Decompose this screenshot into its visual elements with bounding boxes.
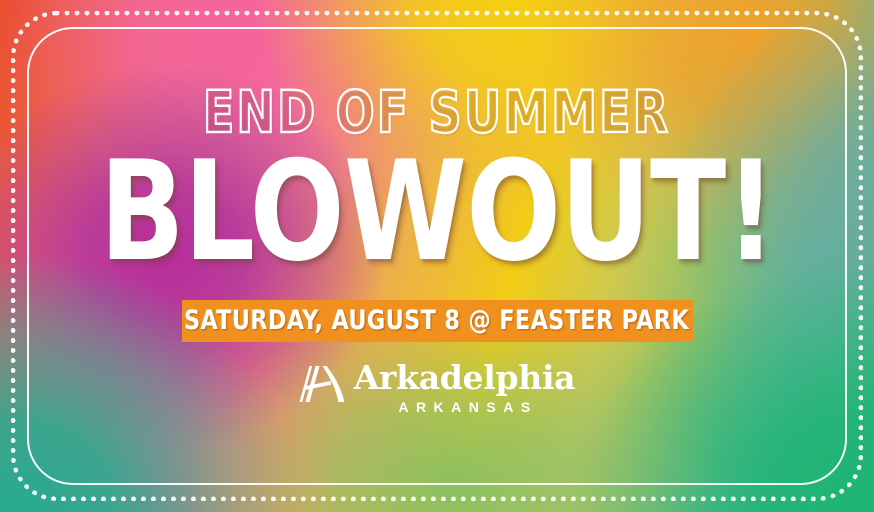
poster-content: END OF SUMMER BLOWOUT! SATURDAY, AUGUST … bbox=[0, 0, 874, 512]
date-location-banner: SATURDAY, AUGUST 8 @ FEASTER PARK bbox=[182, 300, 693, 342]
promo-poster: END OF SUMMER BLOWOUT! SATURDAY, AUGUST … bbox=[0, 0, 874, 512]
logo-state-label: ARKANSAS bbox=[398, 400, 537, 414]
arkadelphia-logo: Arkadelphia ARKANSAS bbox=[299, 361, 576, 414]
logo-wordmark: Arkadelphia bbox=[354, 361, 576, 395]
logo-text-block: Arkadelphia ARKANSAS bbox=[354, 361, 576, 414]
main-headline: BLOWOUT! bbox=[99, 149, 775, 276]
arkadelphia-a-monogram-icon bbox=[299, 362, 345, 406]
date-location-text: SATURDAY, AUGUST 8 @ FEASTER PARK bbox=[184, 307, 689, 334]
